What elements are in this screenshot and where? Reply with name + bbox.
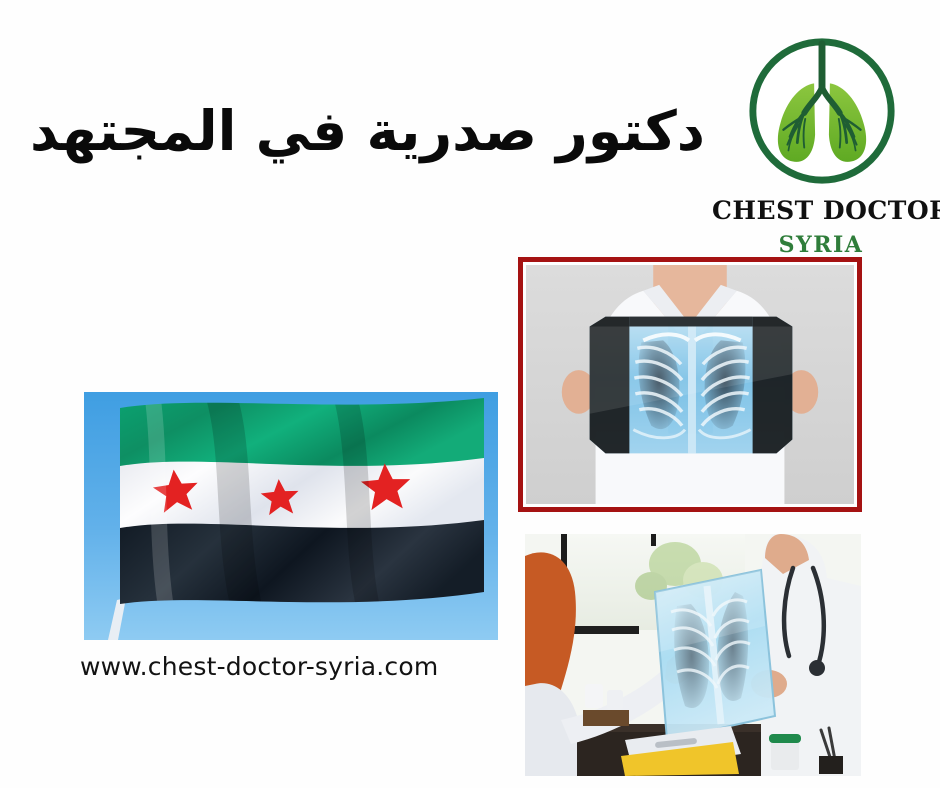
logo-subword: SYRIA — [712, 232, 930, 258]
syrian-flag-photo — [84, 392, 498, 640]
logo-wordmark: CHEST DOCTOR — [712, 196, 930, 225]
poster-canvas: دكتور صدرية في المجتهد — [0, 0, 940, 788]
lungs-in-circle-icon — [743, 32, 901, 190]
page-title: دكتور صدرية في المجتهد — [40, 86, 705, 178]
brand-logo: CHEST DOCTOR SYRIA — [712, 22, 930, 250]
doctor-patient-consultation-photo — [525, 534, 861, 776]
doctor-holding-xray-photo — [526, 265, 854, 504]
xray-photo-frame — [518, 257, 862, 512]
website-url[interactable]: www.chest-doctor-syria.com — [80, 652, 420, 681]
